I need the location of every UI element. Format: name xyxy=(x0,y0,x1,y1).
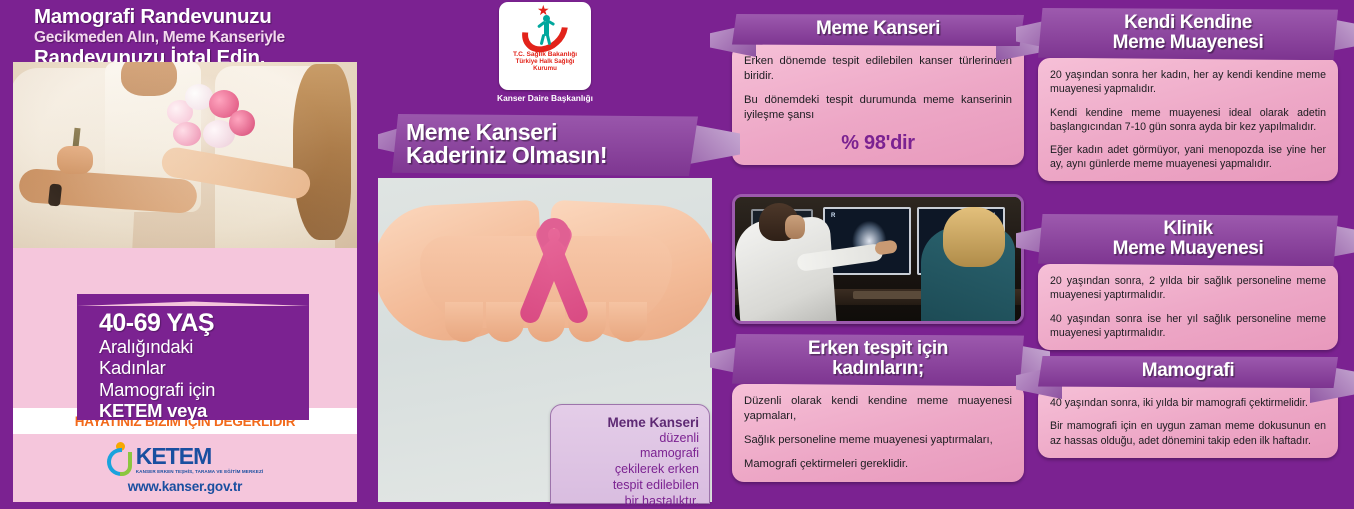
breast-cancer-para-1: Erken dönemde tespit edilebilen kanser t… xyxy=(744,54,1012,84)
keyboard xyxy=(853,291,923,299)
self-exam-para-2: Kendi kendine meme muayenesi ideal olara… xyxy=(1050,106,1326,134)
early-detection-para-1: Düzenli olarak kendi kendine meme muayen… xyxy=(744,394,1012,424)
ketem-footer: KETEM KANSER ERKEN TEŞHİS, TARAMA VE EĞİ… xyxy=(13,434,357,502)
ministry-line-3: Kurumu xyxy=(533,65,557,72)
early-detection-para-2: Sağlık personeline meme muayenesi yaptır… xyxy=(744,433,1012,448)
early-detection-para-3: Mamografi çektirmeleri gereklidir. xyxy=(744,457,1012,472)
ribbon-plate: Meme Kanseri xyxy=(732,14,1024,46)
ketem-wordmark: KETEM xyxy=(136,445,264,468)
ribbon-plate: Erken tespit için kadınların; xyxy=(732,334,1024,386)
self-exam-para-1: 20 yaşından sonra her kadın, her ay kend… xyxy=(1050,68,1326,96)
age-banner-line-4: Mamografi için xyxy=(99,379,309,400)
self-exam-para-3: Eğer kadın adet görmüyor, yani menopozda… xyxy=(1050,143,1326,171)
website-url[interactable]: www.kanser.gov.tr xyxy=(128,479,242,494)
department-label: Kanser Daire Başkanlığı xyxy=(370,93,720,103)
right-area: Meme Kanseri Erken dönemde tespit edileb… xyxy=(720,0,1354,502)
early-detection-box: Düzenli olarak kendi kendine meme muayen… xyxy=(732,384,1024,482)
ribbon-plate: Klinik Meme Muayenesi xyxy=(1038,214,1338,266)
mammography-section: Mamografi 40 yaşından sonra, iki yılda b… xyxy=(1038,356,1338,458)
center-title-banner: Meme Kanseri Kaderiniz Olmasın! xyxy=(392,114,698,176)
early-detection-section: Erken tespit için kadınların; Düzenli ol… xyxy=(732,334,1024,482)
age-banner-top-fold xyxy=(77,294,309,306)
breast-cancer-para-2: Bu dönemdeki tespit durumunda meme kanse… xyxy=(744,93,1012,123)
ministry-emblem-icon xyxy=(516,6,574,50)
center-info-line-2: mamografi xyxy=(561,446,699,462)
headline-line-2: Gecikmeden Alın, Meme Kanseriyle xyxy=(34,29,362,46)
center-info-line-1: düzenli xyxy=(561,431,699,447)
center-info-line-3: çekilerek erken xyxy=(561,462,699,478)
center-title-line-2: Kaderiniz Olmasın! xyxy=(406,144,688,167)
clinical-exam-para-2: 40 yaşından sonra ise her yıl sağlık per… xyxy=(1050,312,1326,340)
ketem-logo: KETEM KANSER ERKEN TEŞHİS, TARAMA VE EĞİ… xyxy=(107,442,264,476)
center-title-plate: Meme Kanseri Kaderiniz Olmasın! xyxy=(392,114,698,176)
clinical-exam-ribbon-heading: Klinik Meme Muayenesi xyxy=(1038,214,1338,266)
breast-cancer-title: Meme Kanseri xyxy=(742,19,1014,39)
self-exam-title-1: Kendi Kendine xyxy=(1048,13,1328,33)
mammography-para-2: Bir mamografi için en uygun zaman meme d… xyxy=(1050,419,1326,447)
clinical-exam-section: Klinik Meme Muayenesi 20 yaşından sonra,… xyxy=(1038,214,1338,350)
clinical-exam-para-1: 20 yaşından sonra, 2 yılda bir sağlık pe… xyxy=(1050,274,1326,302)
ministry-line-2: Türkiye Halk Sağlığı xyxy=(516,58,575,65)
age-banner-line-3: Kadınlar xyxy=(99,357,309,378)
mammography-box: 40 yaşından sonra, iki yılda bir mamogra… xyxy=(1038,386,1338,458)
age-banner-line-2: Aralığındaki xyxy=(99,336,309,357)
mammography-title: Mamografi xyxy=(1048,361,1328,381)
poster-root: Mamografi Randevunuzu Gecikmeden Alın, M… xyxy=(0,0,1354,502)
self-exam-ribbon-heading: Kendi Kendine Meme Muayenesi xyxy=(1038,8,1338,60)
early-detection-title-1: Erken tespit için xyxy=(742,339,1014,359)
center-panel: T.C. Sağlık Bakanlığı Türkiye Halk Sağlı… xyxy=(370,0,720,502)
ketem-subtitle: KANSER ERKEN TEŞHİS, TARAMA VE EĞİTİM ME… xyxy=(136,469,264,474)
age-range-label: 40-69 YAŞ xyxy=(99,310,309,336)
clinical-exam-box: 20 yaşından sonra, 2 yılda bir sağlık pe… xyxy=(1038,264,1338,350)
ketem-green-arc xyxy=(120,452,132,476)
self-exam-title-2: Meme Muayenesi xyxy=(1048,33,1328,53)
breast-cancer-ribbon-heading: Meme Kanseri xyxy=(732,14,1024,46)
center-info-box: Meme Kanseri düzenli mamografi çekilerek… xyxy=(550,404,710,504)
age-banner: 40-69 YAŞ Aralığındaki Kadınlar Mamograf… xyxy=(77,294,309,420)
breast-cancer-box: Erken dönemde tespit edilebilen kanser t… xyxy=(732,44,1024,165)
ribbon-plate: Kendi Kendine Meme Muayenesi xyxy=(1038,8,1338,60)
pink-ribbon-icon xyxy=(522,222,584,334)
clinical-exam-title-1: Klinik xyxy=(1048,219,1328,239)
screen-label-r: R xyxy=(831,213,835,219)
early-detection-ribbon-heading: Erken tespit için kadınların; xyxy=(732,334,1024,386)
photo-vignette xyxy=(13,62,357,248)
doctor-face xyxy=(785,215,805,239)
left-panel: Mamografi Randevunuzu Gecikmeden Alın, M… xyxy=(0,0,370,502)
ribbon-loop xyxy=(538,218,570,252)
breast-cancer-section: Meme Kanseri Erken dönemde tespit edileb… xyxy=(732,14,1024,165)
early-detection-title-2: kadınların; xyxy=(742,359,1014,379)
mammography-para-1: 40 yaşından sonra, iki yılda bir mamogra… xyxy=(1050,396,1326,410)
patient-hair xyxy=(943,207,1005,267)
couple-photo xyxy=(13,62,357,248)
center-info-line-5: bir hastalıktır. xyxy=(561,494,699,509)
center-info-line-4: tespit edilebilen xyxy=(561,478,699,494)
center-info-heading: Meme Kanseri xyxy=(561,415,699,431)
clinical-exam-title-2: Meme Muayenesi xyxy=(1048,239,1328,259)
age-banner-line-5: KETEM veya xyxy=(99,400,309,420)
age-banner-body: 40-69 YAŞ Aralığındaki Kadınlar Mamograf… xyxy=(77,306,309,420)
mammography-ribbon-heading: Mamografi xyxy=(1038,356,1338,388)
center-title-line-1: Meme Kanseri xyxy=(406,121,688,144)
left-content-card: 40-69 YAŞ Aralığındaki Kadınlar Mamograf… xyxy=(13,62,357,420)
ketem-figure-icon xyxy=(107,442,133,476)
person-figure-icon xyxy=(538,15,554,45)
mammogram-consultation-photo: R L xyxy=(732,194,1024,324)
ribbon-plate: Mamografi xyxy=(1038,356,1338,388)
survival-percentage: % 98'dir xyxy=(744,132,1012,155)
self-exam-section: Kendi Kendine Meme Muayenesi 20 yaşından… xyxy=(1038,8,1338,181)
self-exam-box: 20 yaşından sonra her kadın, her ay kend… xyxy=(1038,58,1338,181)
headline-line-1: Mamografi Randevunuzu xyxy=(34,6,362,28)
ministry-logo-card: T.C. Sağlık Bakanlığı Türkiye Halk Sağlı… xyxy=(499,2,591,90)
